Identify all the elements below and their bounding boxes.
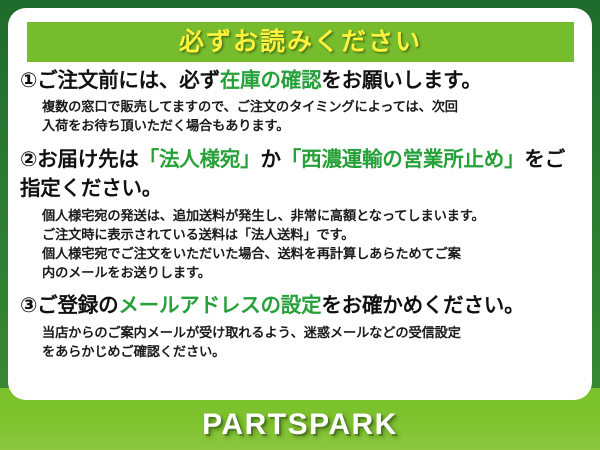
item-1-body-line-1: 複数の窓口で販売してますので、ご注文のタイミングによっては、次回 — [42, 97, 582, 116]
item-2-body-line-4: 内のメールをお送りします。 — [42, 263, 582, 282]
notice-item-2: ②お届け先は「法人様宛」か「西濃運輸の営業所止め」をご指定ください。 個人様宅宛… — [20, 146, 582, 282]
item-2-body-line-2: ご注文時に表示されている送料は「法人送料」です。 — [42, 225, 582, 244]
notice-graphic: 必ずお読みください ①ご注文前には、必ず在庫の確認をお願いします。 複数の窓口で… — [0, 0, 600, 450]
item-2-body-line-3: 個人様宅宛でご注文をいただいた場合、送料を再計算しあらためてご案 — [42, 244, 582, 263]
item-3-heading: ③ご登録のメールアドレスの設定をお確かめください。 — [20, 292, 582, 319]
item-1-heading-part-3: をお願いします。 — [321, 69, 481, 92]
brand-name: PARTSPARK — [202, 408, 398, 442]
item-3-marker: ③ — [20, 294, 37, 317]
item-2-heading-part-1: お届け先は — [37, 148, 139, 171]
notice-item-1: ①ご注文前には、必ず在庫の確認をお願いします。 複数の窓口で販売してますので、ご… — [20, 67, 582, 135]
item-3-body-line-1: 当店からのご案内メールが受け取れるよう、迷惑メールなどの受信設定 — [42, 323, 582, 342]
item-1-marker: ① — [20, 69, 37, 92]
item-2-heading-part-3: か — [260, 148, 280, 171]
item-3-heading-part-2: メールアドレスの設定 — [118, 294, 321, 317]
item-3-body-line-2: をあらかじめご確認ください。 — [42, 342, 582, 361]
item-3-heading-part-3: をお確かめください。 — [321, 294, 524, 317]
notice-body: ①ご注文前には、必ず在庫の確認をお願いします。 複数の窓口で販売してますので、ご… — [8, 66, 592, 363]
item-2-marker: ② — [20, 148, 37, 171]
item-2-heading-part-4: 「西濃運輸の営業所止め」 — [281, 148, 525, 171]
item-1-body-line-2: 入荷をお待ち頂いただく場合もあります。 — [42, 116, 582, 135]
item-2-body-line-1: 個人様宅宛の発送は、追加送料が発生し、非常に高額となってしまいます。 — [42, 206, 582, 225]
item-1-heading: ①ご注文前には、必ず在庫の確認をお願いします。 — [20, 67, 582, 94]
item-3-body: 当店からのご案内メールが受け取れるよう、迷惑メールなどの受信設定をあらかじめご確… — [20, 323, 582, 361]
notice-item-3: ③ご登録のメールアドレスの設定をお確かめください。 当店からのご案内メールが受け… — [20, 292, 582, 360]
item-2-heading: ②お届け先は「法人様宛」か「西濃運輸の営業所止め」をご指定ください。 — [20, 146, 582, 203]
item-1-heading-part-1: ご注文前には、必ず — [37, 69, 220, 92]
notice-title: 必ずお読みください — [179, 30, 422, 55]
item-2-body: 個人様宅宛の発送は、追加送料が発生し、非常に高額となってしまいます。ご注文時に表… — [20, 206, 582, 283]
header-banner: 必ずお読みください — [27, 22, 574, 62]
footer-logo: PARTSPARK — [0, 400, 600, 450]
item-1-heading-part-2: 在庫の確認 — [220, 69, 322, 92]
item-3-heading-part-1: ご登録の — [37, 294, 118, 317]
item-1-body: 複数の窓口で販売してますので、ご注文のタイミングによっては、次回入荷をお待ち頂い… — [20, 97, 582, 135]
white-notice-card: 必ずお読みください ①ご注文前には、必ず在庫の確認をお願いします。 複数の窓口で… — [8, 8, 592, 400]
item-2-heading-part-2: 「法人様宛」 — [139, 148, 261, 171]
